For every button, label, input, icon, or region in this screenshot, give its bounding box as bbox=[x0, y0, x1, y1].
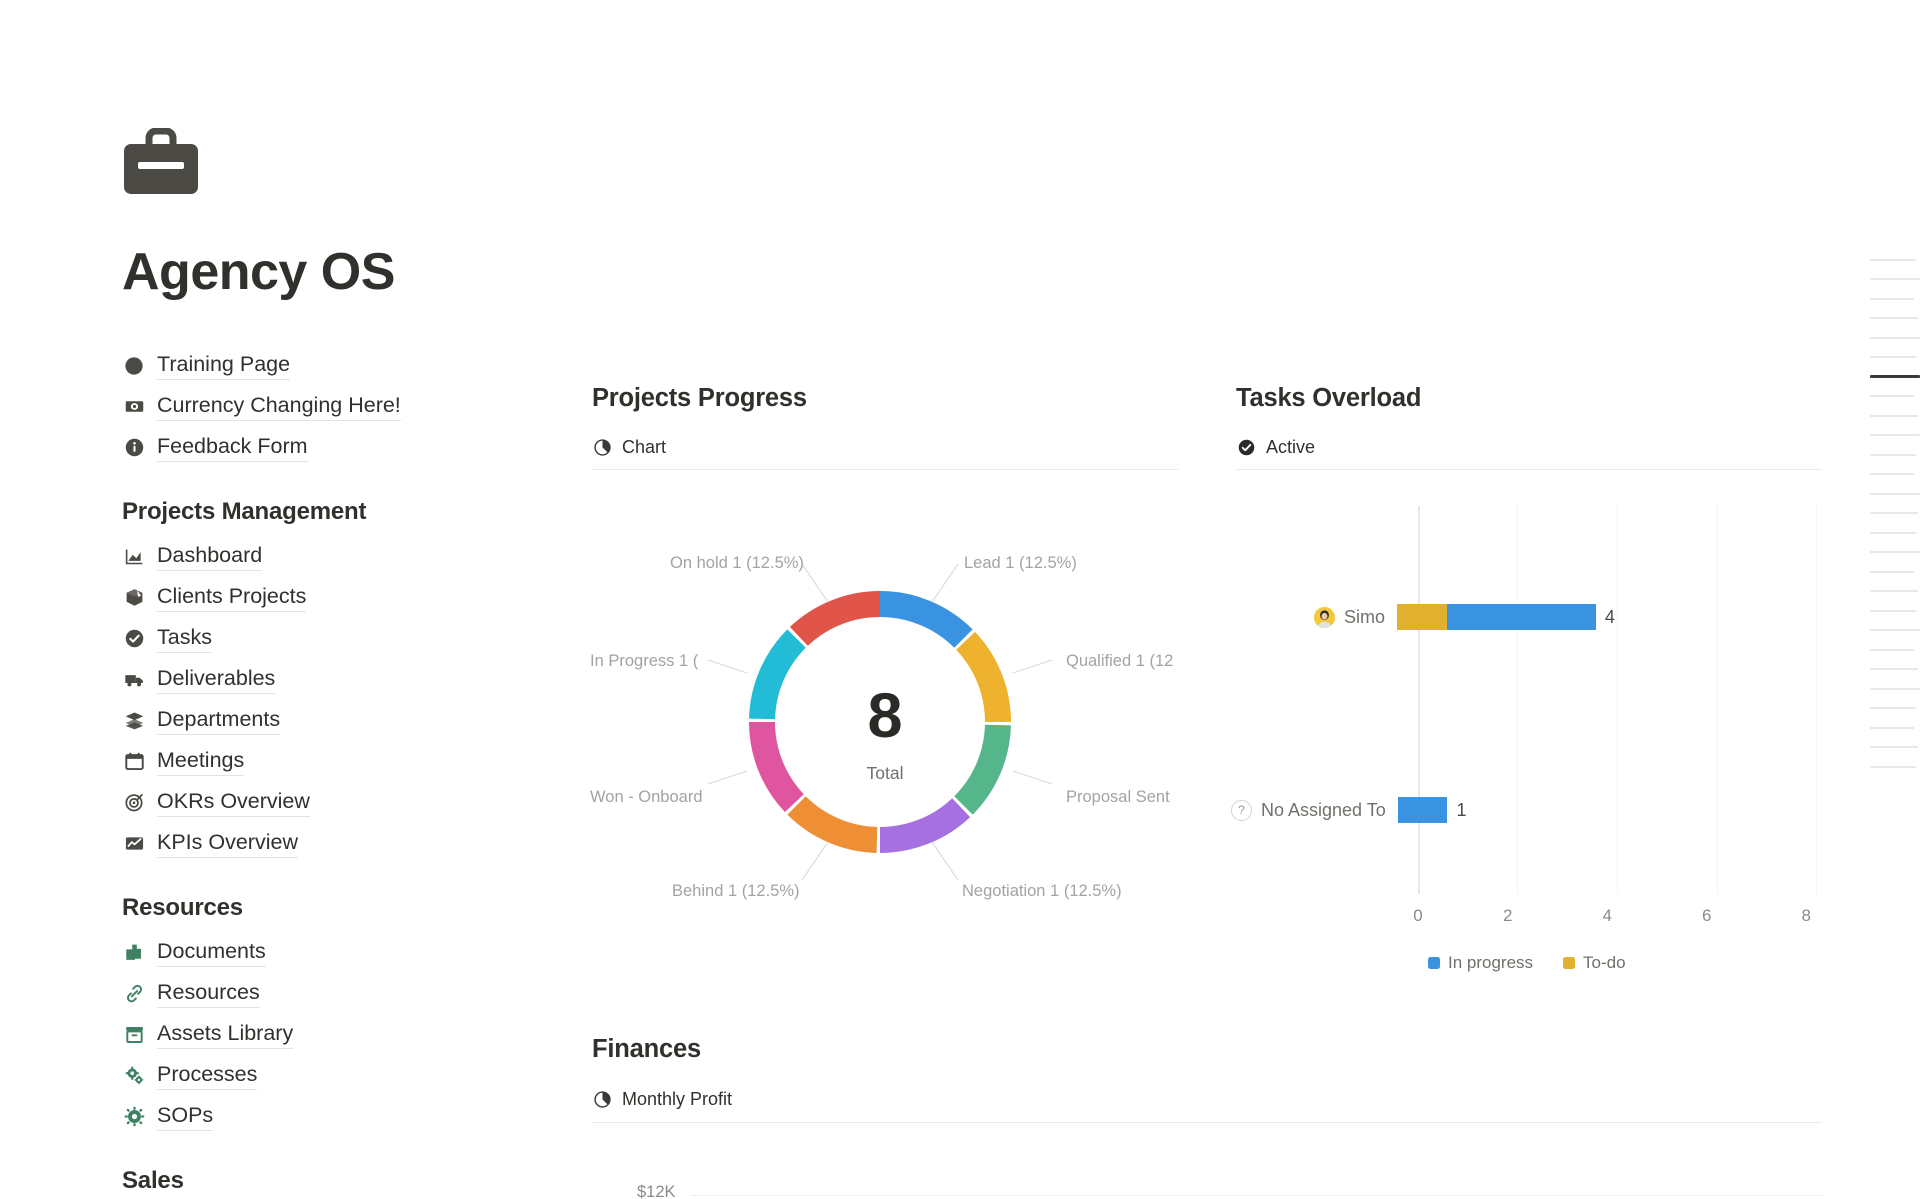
check-circle-icon bbox=[122, 627, 146, 651]
minimap-bar bbox=[1870, 707, 1916, 709]
donut-slice-label-behind: Behind 1 (12.5%) bbox=[672, 882, 800, 901]
x-tick-2: 2 bbox=[1458, 906, 1558, 926]
sidebar-nav: Training Page Currency Changing Here! bbox=[122, 345, 542, 1195]
sidebar-item-meetings[interactable]: Meetings bbox=[122, 741, 542, 782]
minimap-bar bbox=[1870, 259, 1916, 261]
link-icon bbox=[122, 982, 146, 1006]
widgets-row: Projects Progress Chart bbox=[592, 384, 1822, 940]
bar-track bbox=[1397, 604, 1596, 630]
finances-gridline bbox=[692, 1195, 1822, 1196]
bar-track bbox=[1398, 797, 1448, 823]
legend-label: To-do bbox=[1583, 953, 1626, 973]
donut-slice-label-on-hold: On hold 1 (12.5%) bbox=[670, 554, 804, 573]
avatar bbox=[1314, 607, 1335, 628]
minimap-bar bbox=[1870, 512, 1918, 514]
chart-gridline-2 bbox=[1517, 506, 1518, 894]
legend-swatch-todo bbox=[1563, 957, 1575, 969]
x-tick-8: 8 bbox=[1756, 906, 1856, 926]
minimap-bar bbox=[1870, 337, 1920, 339]
minimap-item[interactable] bbox=[1860, 406, 1920, 426]
minimap-bar bbox=[1870, 551, 1920, 553]
sidebar-item-deliverables[interactable]: Deliverables bbox=[122, 659, 542, 700]
x-tick-6: 6 bbox=[1657, 906, 1757, 926]
x-tick-0: 0 bbox=[1378, 906, 1458, 926]
chart-area-icon bbox=[122, 545, 146, 569]
minimap-item[interactable] bbox=[1860, 640, 1920, 660]
minimap-item[interactable] bbox=[1860, 757, 1920, 777]
sidebar-item-feedback-form[interactable]: Feedback Form bbox=[122, 427, 542, 468]
minimap-bar bbox=[1870, 688, 1920, 690]
minimap-bar bbox=[1870, 298, 1914, 300]
minimap-bar bbox=[1870, 629, 1920, 631]
sidebar-item-label: Currency Changing Here! bbox=[157, 392, 401, 421]
sidebar-item-assets-library[interactable]: Assets Library bbox=[122, 1014, 542, 1055]
sidebar-item-clients-projects[interactable]: Clients Projects bbox=[122, 577, 542, 618]
minimap-item[interactable] bbox=[1860, 543, 1920, 563]
sidebar-item-processes[interactable]: Processes bbox=[122, 1055, 542, 1096]
briefcase-icon bbox=[122, 128, 200, 196]
minimap-bar bbox=[1870, 375, 1920, 378]
sidebar-item-label: Training Page bbox=[157, 351, 290, 380]
bar-row-no-assigned-to[interactable]: ? No Assigned To 1 bbox=[1231, 795, 1466, 825]
minimap-item[interactable] bbox=[1860, 582, 1920, 602]
donut-slice-label-qualified: Qualified 1 (12 bbox=[1066, 652, 1173, 671]
sidebar-item-dashboard[interactable]: Dashboard bbox=[122, 536, 542, 577]
view-tab-label: Monthly Profit bbox=[622, 1089, 732, 1110]
minimap-bar bbox=[1870, 317, 1918, 319]
page-header-column: Agency OS Training Page Currency bbox=[122, 0, 542, 1199]
chart-legend: In progress To-do bbox=[1428, 953, 1626, 973]
money-bill-icon bbox=[122, 395, 146, 419]
minimap-bar bbox=[1870, 473, 1914, 475]
minimap-item[interactable] bbox=[1860, 387, 1920, 407]
bar-segment-in-progress[interactable] bbox=[1447, 604, 1596, 630]
sidebar-item-label: Feedback Form bbox=[157, 433, 308, 462]
chart-gridline-8 bbox=[1816, 506, 1817, 894]
widget-tasks-overload: Tasks Overload Active bbox=[1236, 384, 1822, 940]
chart-line-icon bbox=[122, 832, 146, 856]
chart-gridline-4 bbox=[1617, 506, 1618, 894]
page-title: Agency OS bbox=[122, 244, 542, 301]
minimap-bar bbox=[1870, 434, 1920, 436]
donut-slice-label-lead: Lead 1 (12.5%) bbox=[964, 554, 1077, 573]
donut-chart[interactable]: 8 Total Lead 1 (12.5%) Qualified 1 (12 P… bbox=[592, 470, 1178, 940]
sidebar-item-departments[interactable]: Departments bbox=[122, 700, 542, 741]
minimap-item[interactable] bbox=[1860, 465, 1920, 485]
sidebar-item-currency-changing[interactable]: Currency Changing Here! bbox=[122, 386, 542, 427]
minimap-item[interactable] bbox=[1860, 523, 1920, 543]
bar-row-simo[interactable]: Simo 4 bbox=[1314, 602, 1615, 632]
page-root: Agency OS Training Page Currency bbox=[0, 0, 1920, 1199]
view-tab-monthly-profit[interactable]: Monthly Profit bbox=[592, 1089, 1822, 1123]
bar-segment-todo[interactable] bbox=[1397, 604, 1447, 630]
minimap-bar bbox=[1870, 590, 1918, 592]
minimap-item[interactable] bbox=[1860, 699, 1920, 719]
legend-entry-in-progress[interactable]: In progress bbox=[1428, 953, 1533, 973]
widget-finances: Finances Monthly Profit bbox=[592, 1035, 1822, 1123]
minimap-item-active[interactable] bbox=[1860, 367, 1920, 387]
calendar-icon bbox=[122, 750, 146, 774]
table-of-contents-minimap[interactable] bbox=[1860, 250, 1920, 777]
sidebar-item-label: OKRs Overview bbox=[157, 788, 310, 817]
sidebar-item-label: SOPs bbox=[157, 1102, 213, 1131]
sidebar-item-label: Processes bbox=[157, 1061, 257, 1090]
minimap-bar bbox=[1870, 278, 1920, 280]
chart-y-axis bbox=[1418, 506, 1420, 894]
sidebar-item-label: Resources bbox=[157, 979, 260, 1008]
minimap-bar bbox=[1870, 454, 1916, 456]
sidebar-item-label: Clients Projects bbox=[157, 583, 306, 612]
box-open-icon bbox=[122, 586, 146, 610]
info-circle-icon bbox=[122, 436, 146, 460]
legend-swatch-in-progress bbox=[1428, 957, 1440, 969]
widget-title: Projects Progress bbox=[592, 384, 1178, 413]
sidebar-item-documents[interactable]: Documents bbox=[122, 932, 542, 973]
pie-chart-icon bbox=[592, 437, 613, 458]
x-tick-4: 4 bbox=[1557, 906, 1657, 926]
minimap-item[interactable] bbox=[1860, 426, 1920, 446]
pie-chart-icon bbox=[592, 1089, 613, 1110]
view-tab-label: Active bbox=[1266, 437, 1315, 458]
layers-icon bbox=[122, 709, 146, 733]
sidebar-item-label: Assets Library bbox=[157, 1020, 293, 1049]
minimap-bar bbox=[1870, 415, 1918, 417]
minimap-item[interactable] bbox=[1860, 718, 1920, 738]
sidebar-item-label: Documents bbox=[157, 938, 266, 967]
bar-chart[interactable]: Simo 4 ? No Assigned To bbox=[1236, 470, 1822, 940]
donut-slice-label-won-onboarding: Won - Onboard bbox=[590, 788, 703, 807]
minimap-item[interactable] bbox=[1860, 309, 1920, 329]
minimap-item[interactable] bbox=[1860, 328, 1920, 348]
minimap-bar bbox=[1870, 610, 1916, 612]
chart-gridline-6 bbox=[1717, 506, 1718, 894]
check-circle-icon bbox=[1236, 437, 1257, 458]
minimap-bar bbox=[1870, 746, 1918, 748]
minimap-item[interactable] bbox=[1860, 445, 1920, 465]
donut-center-value: 8 bbox=[592, 685, 1178, 748]
sidebar-section-heading-resources: Resources bbox=[122, 894, 542, 922]
truck-icon bbox=[122, 668, 146, 692]
view-tab-chart[interactable]: Chart bbox=[592, 437, 1178, 470]
question-mark-icon: ? bbox=[1231, 800, 1252, 821]
gear-icon bbox=[122, 1105, 146, 1129]
minimap-bar bbox=[1870, 532, 1916, 534]
view-tab-active[interactable]: Active bbox=[1236, 437, 1822, 470]
chart-x-axis-ticks: 0 2 4 6 8 bbox=[1378, 906, 1856, 926]
minimap-item[interactable] bbox=[1860, 504, 1920, 524]
sidebar-item-resources[interactable]: Resources bbox=[122, 973, 542, 1014]
minimap-item[interactable] bbox=[1860, 601, 1920, 621]
minimap-item[interactable] bbox=[1860, 270, 1920, 290]
legend-entry-todo[interactable]: To-do bbox=[1563, 953, 1626, 973]
minimap-bar bbox=[1870, 766, 1916, 768]
minimap-item[interactable] bbox=[1860, 348, 1920, 368]
main-content: Projects Progress Chart bbox=[592, 0, 1822, 1199]
minimap-item[interactable] bbox=[1860, 289, 1920, 309]
minimap-bar bbox=[1870, 356, 1916, 358]
minimap-bar bbox=[1870, 571, 1914, 573]
legend-label: In progress bbox=[1448, 953, 1533, 973]
donut-slice-label-proposal-sent: Proposal Sent bbox=[1066, 788, 1170, 807]
sidebar-item-label: KPIs Overview bbox=[157, 829, 298, 858]
sidebar-section-heading-projects-management: Projects Management bbox=[122, 498, 542, 526]
sidebar-item-sops[interactable]: SOPs bbox=[122, 1096, 542, 1137]
sidebar-item-kpis-overview[interactable]: KPIs Overview bbox=[122, 823, 542, 864]
minimap-item[interactable] bbox=[1860, 621, 1920, 641]
minimap-item[interactable] bbox=[1860, 484, 1920, 504]
minimap-item[interactable] bbox=[1860, 679, 1920, 699]
sidebar-item-label: Deliverables bbox=[157, 665, 275, 694]
sidebar-item-tasks[interactable]: Tasks bbox=[122, 618, 542, 659]
minimap-bar bbox=[1870, 727, 1914, 729]
minimap-bar bbox=[1870, 395, 1914, 397]
view-tab-label: Chart bbox=[622, 437, 666, 458]
sidebar-item-training-page[interactable]: Training Page bbox=[122, 345, 542, 386]
minimap-bar bbox=[1870, 668, 1918, 670]
minimap-bar bbox=[1870, 649, 1914, 651]
bar-segment-in-progress[interactable] bbox=[1398, 797, 1448, 823]
documents-icon bbox=[122, 941, 146, 965]
donut-slice-label-in-progress: In Progress 1 ( bbox=[590, 652, 698, 671]
widget-title: Tasks Overload bbox=[1236, 384, 1822, 413]
widget-projects-progress: Projects Progress Chart bbox=[592, 384, 1178, 940]
sidebar-item-okrs-overview[interactable]: OKRs Overview bbox=[122, 782, 542, 823]
minimap-item[interactable] bbox=[1860, 738, 1920, 758]
circle-icon bbox=[122, 354, 146, 378]
bar-category-label: Simo bbox=[1344, 607, 1385, 628]
bar-total-value: 4 bbox=[1605, 607, 1615, 628]
bar-total-value: 1 bbox=[1456, 800, 1466, 821]
widget-title: Finances bbox=[592, 1035, 1822, 1064]
minimap-item[interactable] bbox=[1860, 660, 1920, 680]
sidebar-item-label: Tasks bbox=[157, 624, 212, 653]
archive-icon bbox=[122, 1023, 146, 1047]
minimap-bar bbox=[1870, 493, 1920, 495]
gears-icon bbox=[122, 1064, 146, 1088]
bar-category-label: No Assigned To bbox=[1261, 800, 1386, 821]
minimap-item[interactable] bbox=[1860, 562, 1920, 582]
donut-center-label: Total bbox=[592, 763, 1178, 784]
donut-slice-label-negotiation: Negotiation 1 (12.5%) bbox=[962, 882, 1122, 901]
sidebar-section-heading-sales: Sales bbox=[122, 1167, 542, 1195]
sidebar-item-label: Meetings bbox=[157, 747, 244, 776]
target-icon bbox=[122, 791, 146, 815]
sidebar-item-label: Dashboard bbox=[157, 542, 262, 571]
sidebar-item-label: Departments bbox=[157, 706, 280, 735]
minimap-item[interactable] bbox=[1860, 250, 1920, 270]
finances-y-axis-label: $12K bbox=[637, 1183, 676, 1199]
